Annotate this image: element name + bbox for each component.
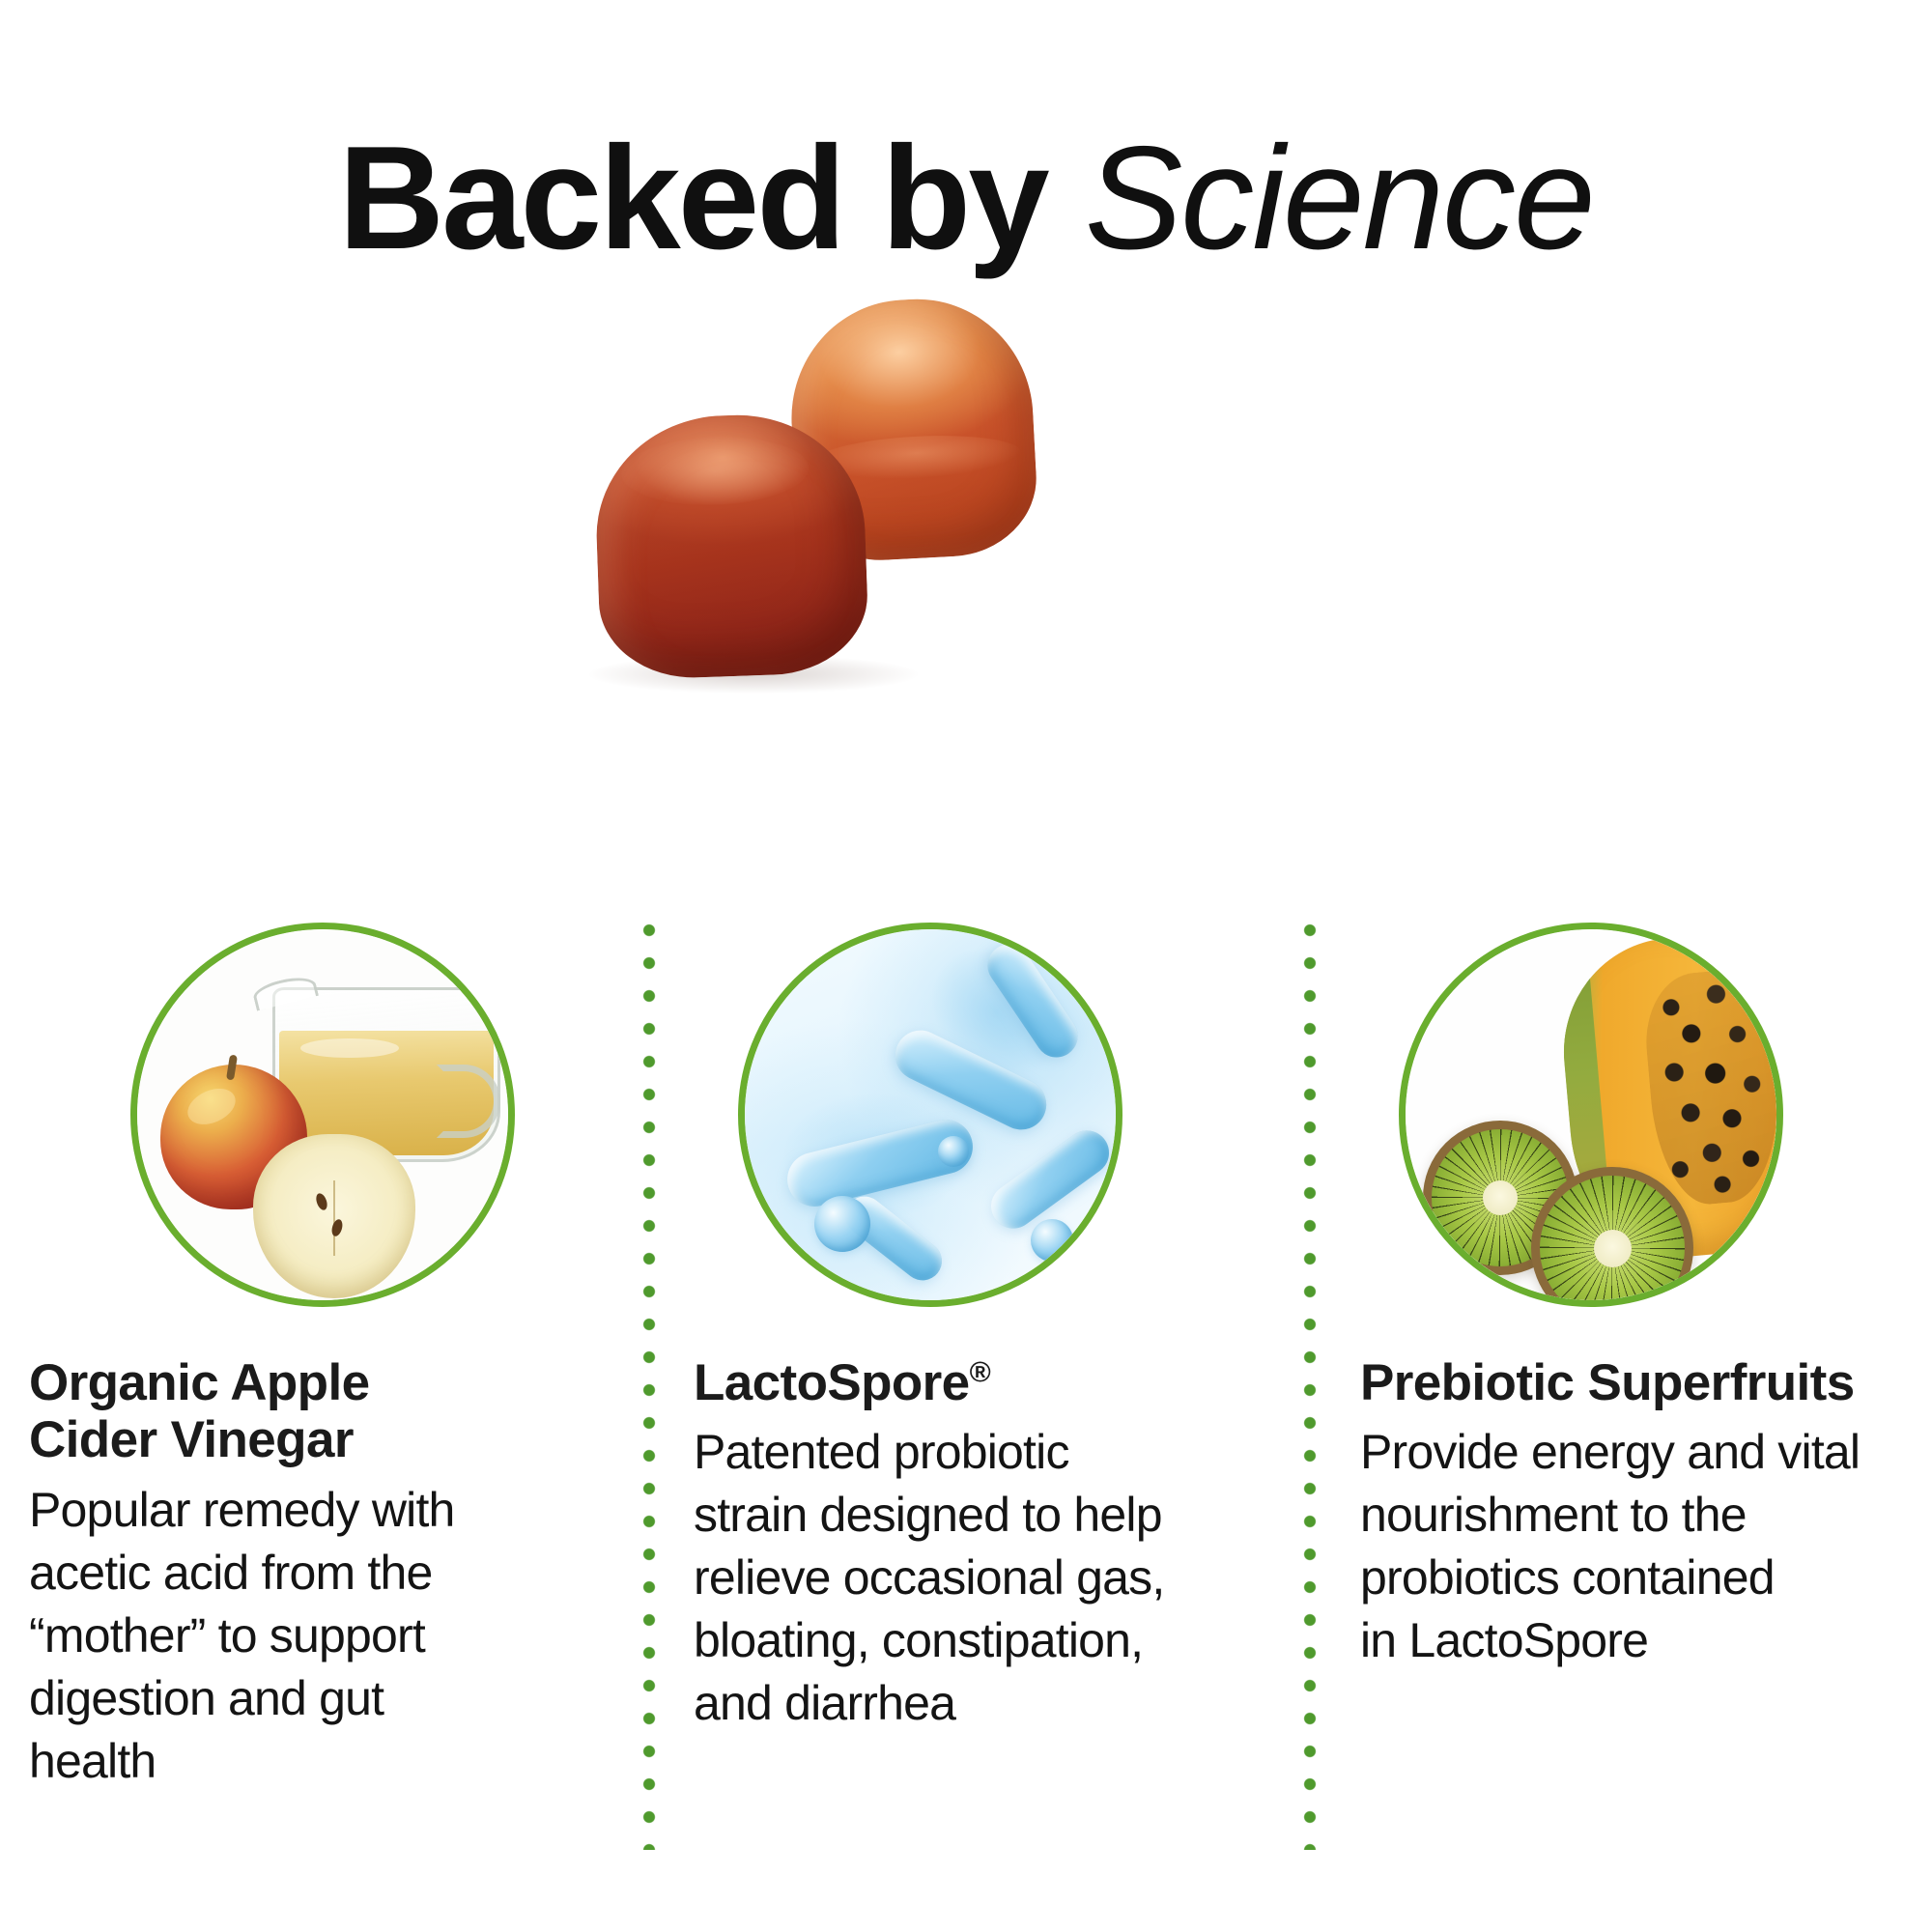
- red-gummy: [592, 411, 869, 681]
- page-title: Backed by Science: [0, 114, 1932, 283]
- column-heading: LactoSpore®: [694, 1354, 1196, 1411]
- bacteria-cell-icon: [938, 1136, 969, 1167]
- papaya-kiwi-superfruits-icon: [1399, 923, 1783, 1307]
- registered-trademark-icon: ®: [970, 1356, 991, 1388]
- bacteria-cell-icon: [1031, 1219, 1073, 1262]
- bacteria-cell-icon: [814, 1196, 870, 1252]
- title-italic-text: Science: [1085, 116, 1594, 280]
- column-heading: Organic Apple Cider Vinegar: [29, 1354, 517, 1469]
- column-apple-cider-vinegar: Organic Apple Cider Vinegar Popular reme…: [29, 898, 570, 1307]
- apple-cider-vinegar-icon: [130, 923, 515, 1307]
- title-bold-text: Backed by: [338, 116, 1085, 280]
- probiotic-bacteria-icon: [738, 923, 1122, 1307]
- column-prebiotic-superfruits: Prebiotic Superfruits Provide energy and…: [1360, 898, 1901, 1307]
- gummy-hero-image: [580, 290, 1333, 705]
- column-heading: Prebiotic Superfruits: [1360, 1354, 1932, 1411]
- column-lactospore: LactoSpore® Patented probiotic strain de…: [694, 898, 1235, 1307]
- column-body: Provide energy and vital nourishment to …: [1360, 1421, 1932, 1672]
- column-body: Patented probiotic strain designed to he…: [694, 1421, 1196, 1735]
- column-heading-text: LactoSpore: [694, 1354, 970, 1411]
- column-body: Popular remedy with acetic acid from the…: [29, 1479, 517, 1793]
- ingredient-columns: Organic Apple Cider Vinegar Popular reme…: [0, 898, 1932, 1932]
